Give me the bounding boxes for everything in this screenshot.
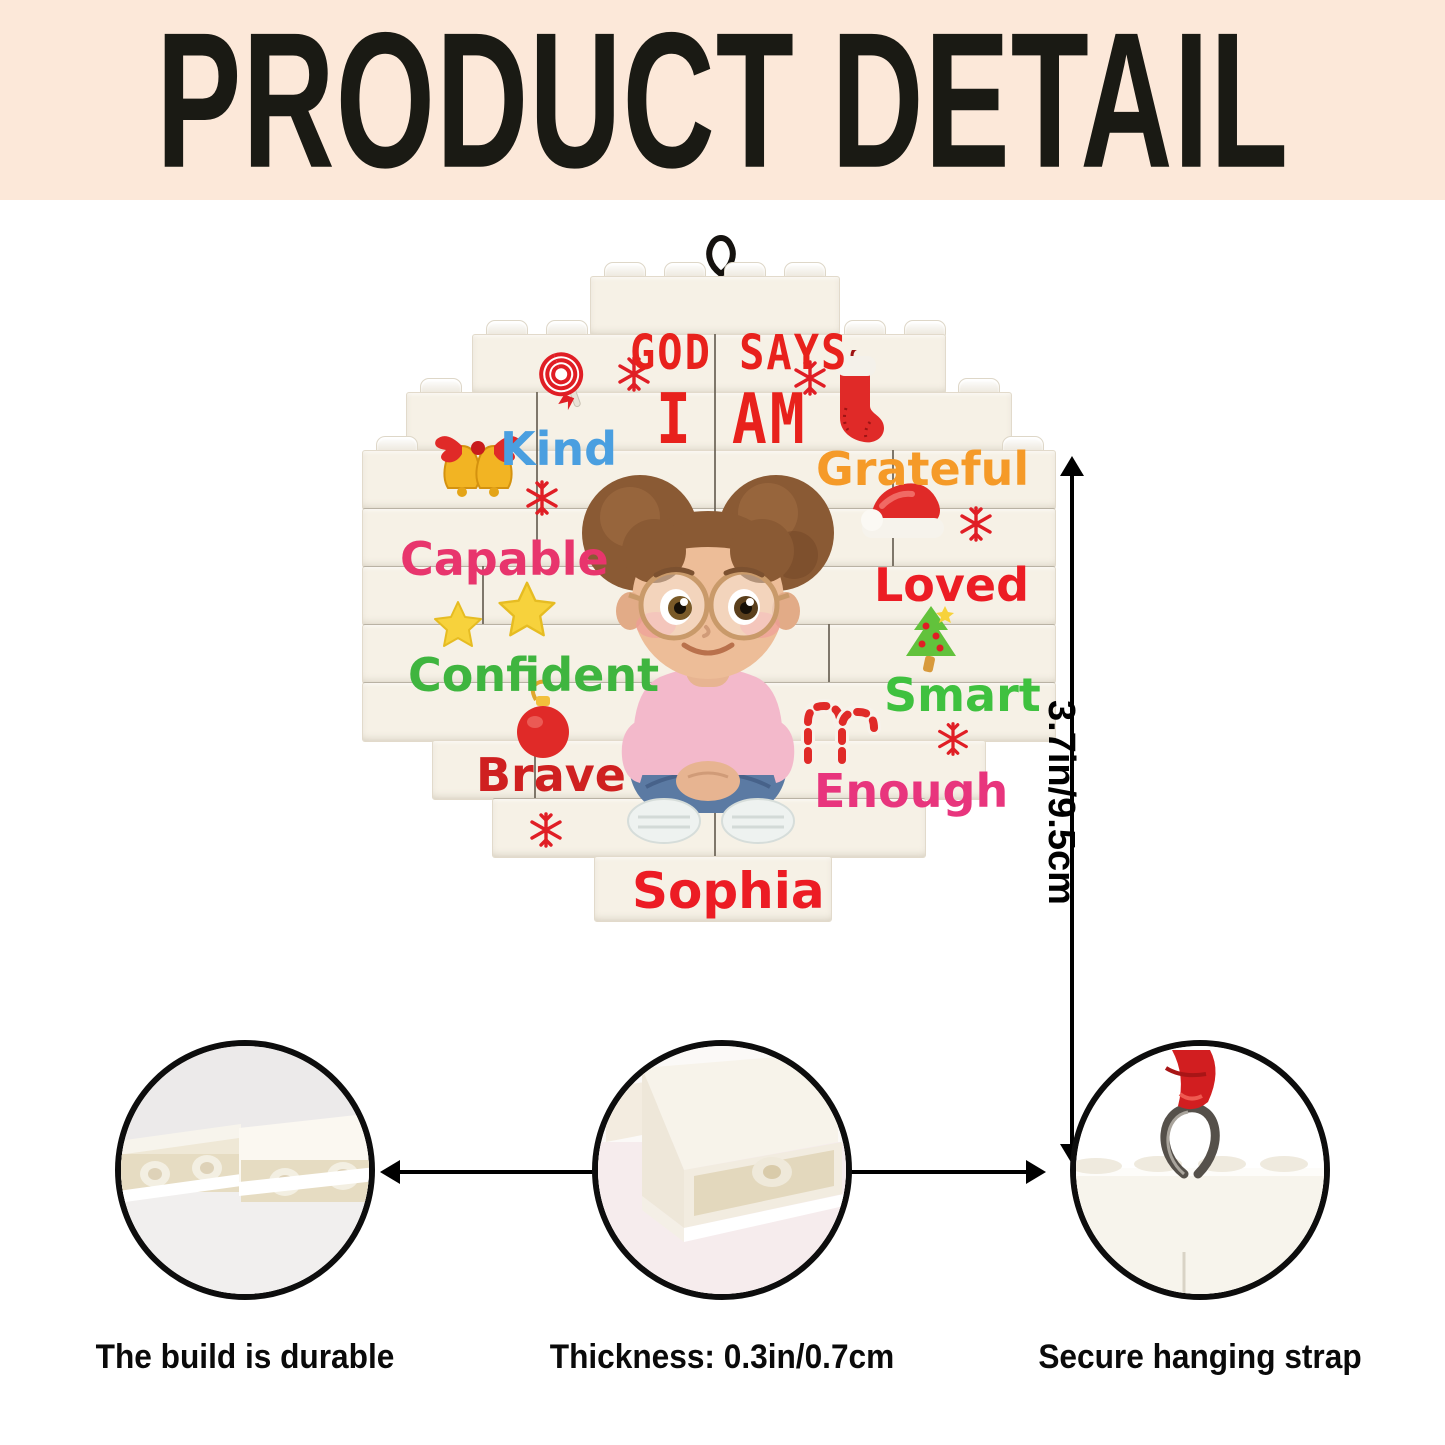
affirmation-enough: Enough bbox=[814, 768, 1008, 814]
affirmation-kind: Kind bbox=[500, 426, 617, 472]
feature-caption: Secure hanging strap bbox=[981, 1338, 1418, 1377]
feature-caption: The build is durable bbox=[26, 1338, 463, 1377]
star-icon bbox=[432, 598, 484, 650]
snowflake-icon bbox=[934, 720, 972, 758]
page-header: PRODUCT DETAIL bbox=[0, 0, 1445, 200]
headline-line-1: GOD SAYS bbox=[630, 329, 848, 377]
affirmation-capable: Capable bbox=[400, 536, 609, 582]
affirmation-smart: Smart bbox=[884, 672, 1041, 718]
lollipop-icon bbox=[538, 350, 600, 412]
affirmation-confident: Confident bbox=[408, 652, 659, 698]
dimension-arrow-up bbox=[1060, 456, 1084, 476]
feature-thickness: Thickness: 0.3in/0.7cm bbox=[487, 1040, 957, 1377]
feature-section: The build is durable Thickness: 0.3in/0 bbox=[0, 1040, 1445, 1445]
feature-hanging-strap: Secure hanging strap bbox=[965, 1040, 1435, 1377]
affirmation-loved: Loved bbox=[874, 562, 1029, 608]
dimension-height-label: 3.7in/9.5cm bbox=[1039, 700, 1082, 905]
snowflake-icon bbox=[956, 504, 996, 544]
snowflake-icon bbox=[526, 810, 566, 850]
headline-line-2: I AM bbox=[656, 384, 808, 454]
product-stage: GOD SAYS I AM Kind Grateful Capable Love… bbox=[0, 200, 1445, 1020]
page-title: PRODUCT DETAIL bbox=[156, 3, 1289, 196]
snowflake-icon bbox=[522, 478, 562, 518]
red-ribbon-ring-photo bbox=[1070, 1040, 1330, 1300]
brick-plaque: GOD SAYS I AM Kind Grateful Capable Love… bbox=[358, 240, 1058, 950]
star-icon bbox=[496, 578, 558, 640]
affirmation-grateful: Grateful bbox=[816, 446, 1029, 492]
personalized-name: Sophia bbox=[632, 866, 825, 916]
affirmation-brave: Brave bbox=[476, 752, 626, 798]
block-edge-photo bbox=[592, 1040, 852, 1300]
feature-durable: The build is durable bbox=[10, 1040, 480, 1377]
block-underside-photo bbox=[115, 1040, 375, 1300]
feature-caption: Thickness: 0.3in/0.7cm bbox=[503, 1338, 940, 1377]
